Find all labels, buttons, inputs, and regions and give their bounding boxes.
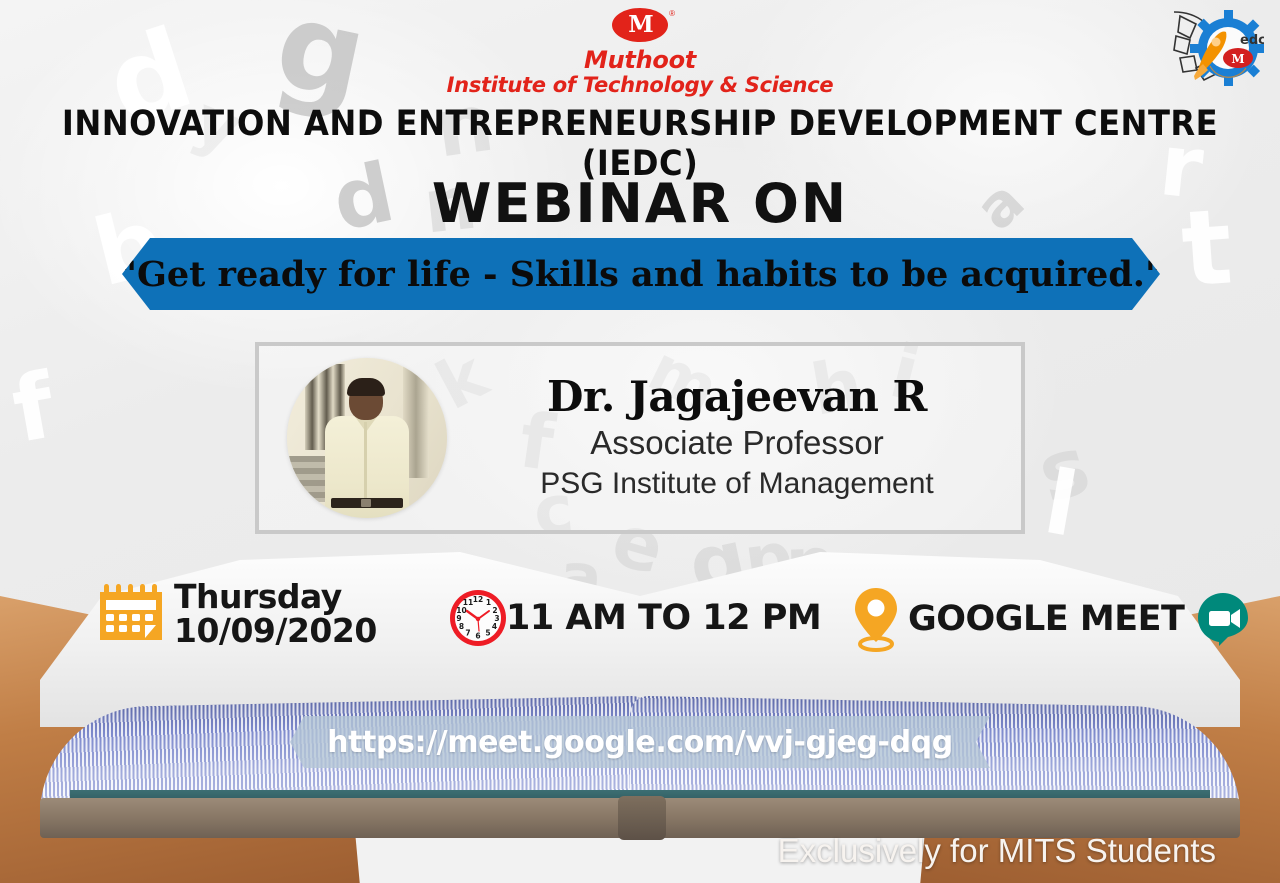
iedc-badge: edc M bbox=[1170, 6, 1264, 94]
svg-text:12: 12 bbox=[473, 595, 483, 604]
event-day: Thursday bbox=[174, 580, 377, 614]
svg-text:10: 10 bbox=[456, 606, 466, 615]
meeting-link[interactable]: https://meet.google.com/vvj-gjeg-dqg bbox=[327, 725, 953, 760]
svg-text:5: 5 bbox=[485, 629, 490, 638]
svg-text:7: 7 bbox=[465, 629, 470, 638]
institute-name-line1: Muthoot bbox=[0, 48, 1280, 73]
event-time: 11 AM TO 12 PM bbox=[506, 598, 821, 638]
speaker-details: Dr. Jagajeevan R Associate Professor PSG… bbox=[473, 374, 1021, 503]
svg-text:9: 9 bbox=[456, 614, 461, 623]
event-type-heading: WEBINAR ON bbox=[0, 172, 1280, 235]
speaker-designation: Associate Professor bbox=[473, 422, 1001, 463]
svg-text:4: 4 bbox=[492, 622, 497, 631]
svg-text:6: 6 bbox=[475, 632, 480, 641]
webinar-topic-ribbon: "Get ready for life - Skills and habits … bbox=[122, 238, 1160, 310]
iedc-logo-icon: edc M bbox=[1170, 6, 1264, 94]
svg-text:11: 11 bbox=[463, 598, 473, 607]
event-details-row: Thursday 10/09/2020 12 1 2 3 4 5 6 7 8 9 bbox=[0, 578, 1280, 658]
event-time-item: 12 1 2 3 4 5 6 7 8 9 10 11 11 AM bbox=[446, 586, 821, 650]
audience-note: Exclusively for MITS Students bbox=[778, 832, 1216, 870]
clock-icon: 12 1 2 3 4 5 6 7 8 9 10 11 bbox=[446, 586, 510, 650]
svg-text:8: 8 bbox=[459, 622, 464, 631]
speaker-organization: PSG Institute of Management bbox=[473, 465, 1001, 503]
iedc-badge-text: edc bbox=[1240, 33, 1264, 48]
webinar-topic: "Get ready for life - Skills and habits … bbox=[119, 254, 1163, 295]
event-date-value: 10/09/2020 bbox=[174, 614, 377, 648]
registered-mark: ® bbox=[669, 9, 675, 18]
speaker-name: Dr. Jagajeevan R bbox=[473, 374, 1001, 420]
calendar-icon bbox=[96, 578, 168, 650]
photo-buckle bbox=[361, 499, 371, 507]
photo-hair bbox=[347, 378, 385, 396]
event-platform: GOOGLE MEET bbox=[908, 599, 1184, 639]
event-platform-item: GOOGLE MEET bbox=[848, 586, 1252, 652]
institute-name-line2: Institute of Technology & Science bbox=[0, 73, 1280, 97]
iedc-badge-mark: M bbox=[1231, 52, 1244, 66]
book-spine-notch bbox=[618, 796, 666, 840]
speaker-photo bbox=[287, 358, 447, 518]
location-pin-icon bbox=[848, 586, 904, 652]
photo-placket bbox=[364, 422, 367, 498]
event-date: Thursday 10/09/2020 bbox=[174, 580, 377, 647]
google-meet-icon[interactable] bbox=[1194, 590, 1252, 648]
institute-logo: M ® Muthoot Institute of Technology & Sc… bbox=[0, 8, 1280, 97]
muthoot-mark-icon: M ® bbox=[612, 8, 668, 42]
svg-text:1: 1 bbox=[486, 598, 491, 607]
event-date-item: Thursday 10/09/2020 bbox=[96, 578, 377, 650]
meeting-link-bar[interactable]: https://meet.google.com/vvj-gjeg-dqg bbox=[290, 716, 990, 768]
speaker-card: Dr. Jagajeevan R Associate Professor PSG… bbox=[255, 342, 1025, 534]
muthoot-mark-glyph: M bbox=[612, 8, 668, 42]
webinar-poster: d g n p b n r t a f f k m h i s l c e g … bbox=[0, 0, 1280, 883]
